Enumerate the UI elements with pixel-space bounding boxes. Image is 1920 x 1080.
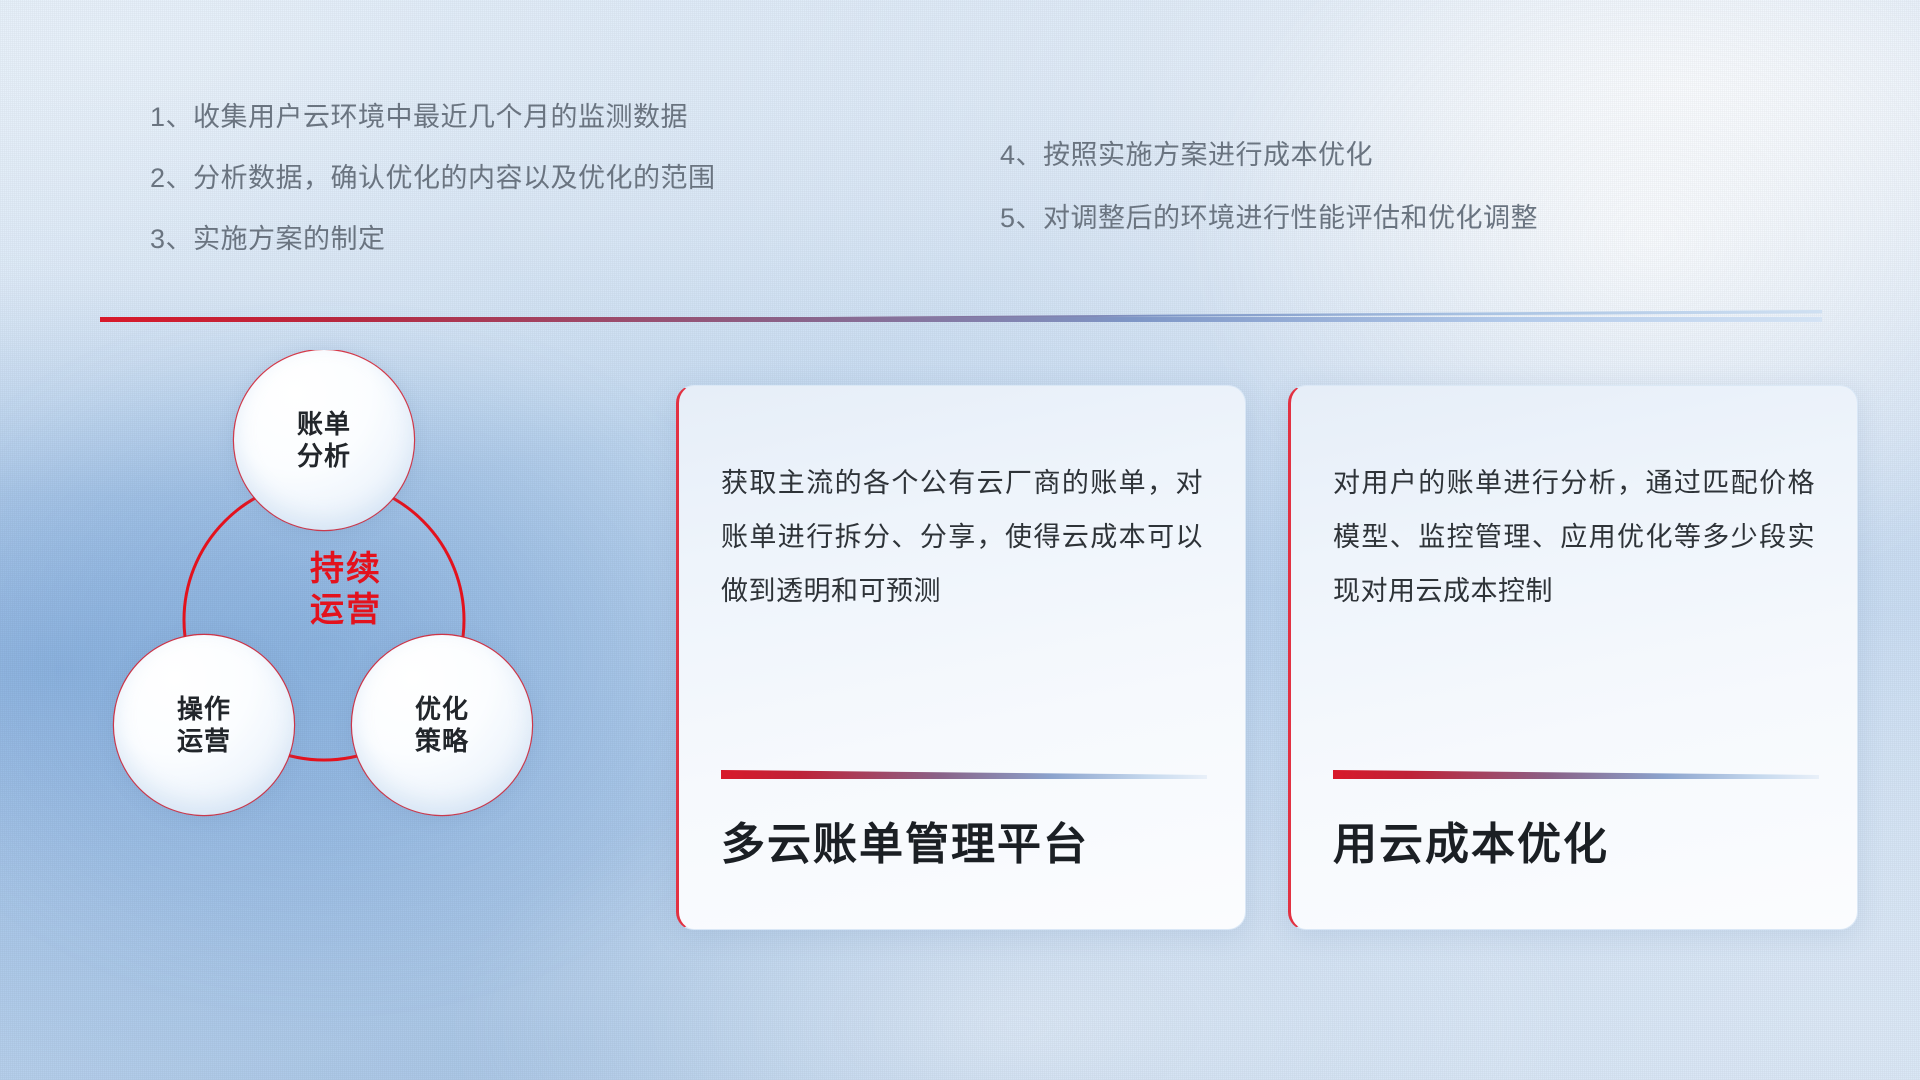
card-title: 多云账单管理平台 — [721, 821, 1221, 869]
divider-bar — [100, 317, 1822, 322]
venn-bubble-label: 优化 策略 — [415, 693, 469, 758]
venn-diagram: 账单 分析 操作 运营 优化 策略 持续 运营 — [96, 350, 616, 830]
card-divider — [1333, 770, 1819, 779]
venn-center-label-wrap: 持续 运营 — [256, 535, 436, 645]
steps-right-column: 4、按照实施方案进行成本优化 5、对调整后的环境进行性能评估和优化调整 — [1000, 142, 1538, 268]
step-item: 3、实施方案的制定 — [150, 226, 716, 253]
card-body: 对用户的账单进行分析，通过匹配价格模型、监控管理、应用优化等多少段实现对用云成本… — [1291, 386, 1857, 618]
venn-bubble-label: 账单 分析 — [297, 408, 351, 473]
card-divider — [721, 770, 1207, 779]
card-multi-cloud-billing-platform[interactable]: 获取主流的各个公有云厂商的账单，对账单进行拆分、分享，使得云成本可以做到透明和可… — [676, 385, 1246, 930]
card-body: 获取主流的各个公有云厂商的账单，对账单进行拆分、分享，使得云成本可以做到透明和可… — [679, 386, 1245, 618]
card-divider-taper — [721, 770, 1207, 779]
card-cloud-cost-optimization[interactable]: 对用户的账单进行分析，通过匹配价格模型、监控管理、应用优化等多少段实现对用云成本… — [1288, 385, 1858, 930]
section-divider — [100, 310, 1822, 322]
venn-bubble-label: 操作 运营 — [177, 693, 231, 758]
venn-bubble-optimization-strategy[interactable]: 优化 策略 — [352, 635, 532, 815]
step-item: 2、分析数据，确认优化的内容以及优化的范围 — [150, 165, 716, 192]
step-item: 1、收集用户云环境中最近几个月的监测数据 — [150, 104, 716, 131]
step-item: 4、按照实施方案进行成本优化 — [1000, 142, 1538, 169]
slide-canvas: 1、收集用户云环境中最近几个月的监测数据 2、分析数据，确认优化的内容以及优化的… — [0, 0, 1920, 1080]
venn-center-label: 持续 运营 — [310, 549, 382, 632]
venn-bubble-operations[interactable]: 操作 运营 — [114, 635, 294, 815]
card-description: 获取主流的各个公有云厂商的账单，对账单进行拆分、分享，使得云成本可以做到透明和可… — [721, 456, 1203, 618]
step-item: 5、对调整后的环境进行性能评估和优化调整 — [1000, 205, 1538, 232]
card-title: 用云成本优化 — [1333, 821, 1833, 869]
card-divider-taper — [1333, 770, 1819, 779]
card-description: 对用户的账单进行分析，通过匹配价格模型、监控管理、应用优化等多少段实现对用云成本… — [1333, 456, 1815, 618]
venn-bubble-bill-analysis[interactable]: 账单 分析 — [234, 350, 414, 530]
steps-left-column: 1、收集用户云环境中最近几个月的监测数据 2、分析数据，确认优化的内容以及优化的… — [150, 104, 716, 287]
